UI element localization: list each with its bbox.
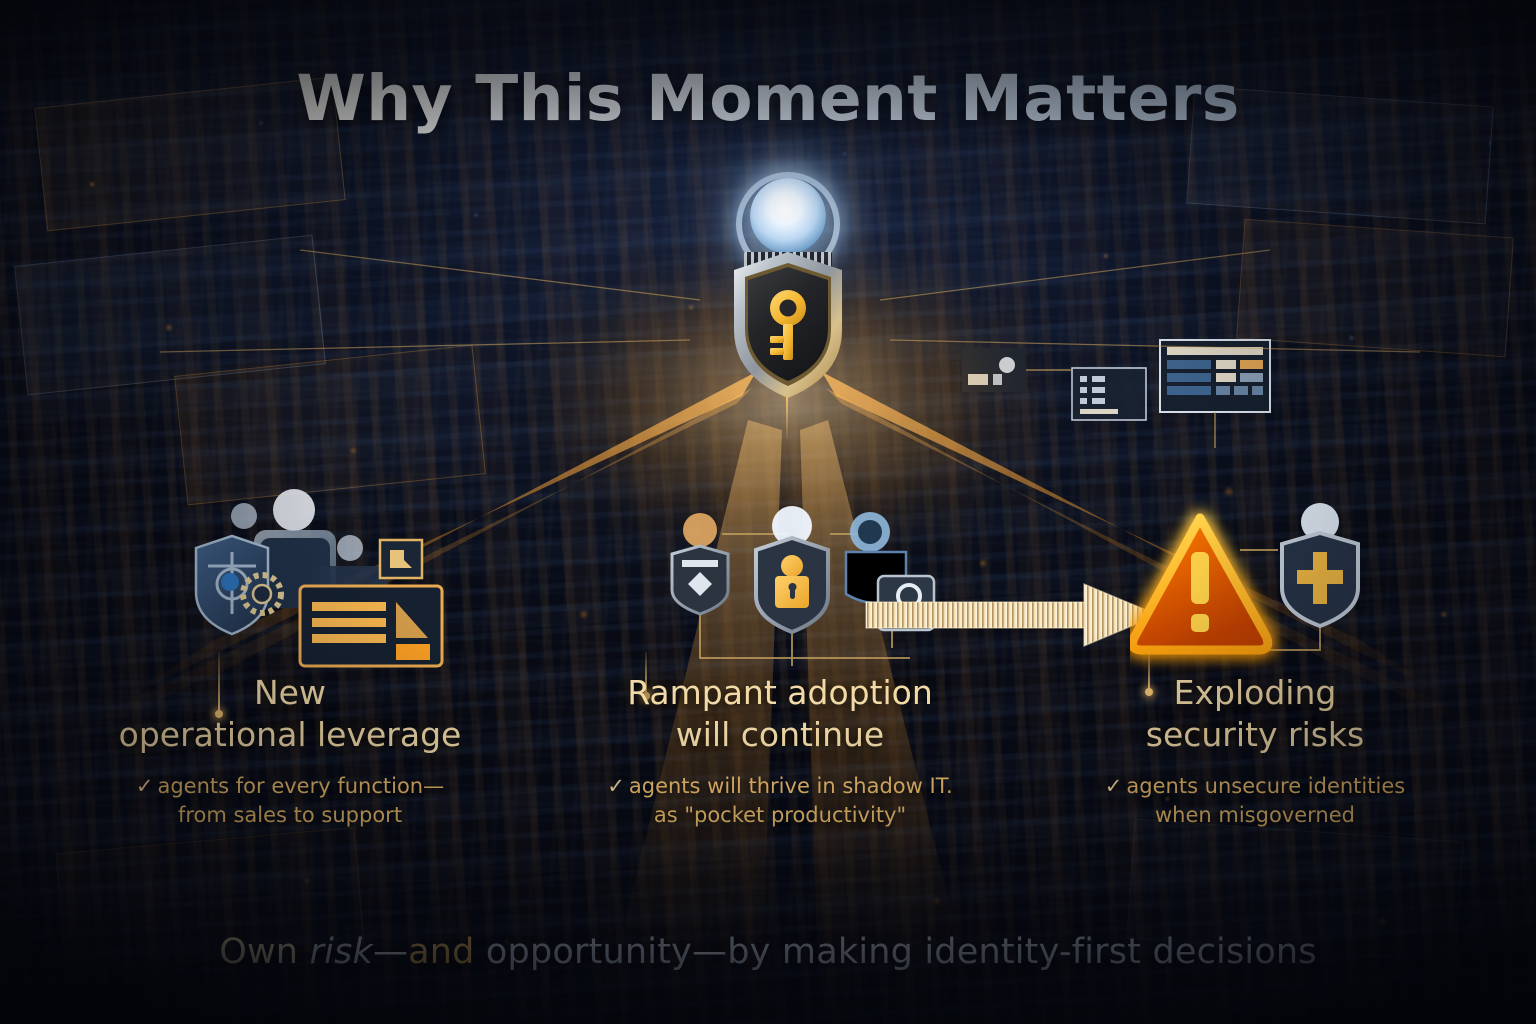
column-security-risks: Exploding security risks ✓agents unsecur… [1045, 672, 1465, 830]
column-heading-line2: will continue [676, 715, 884, 754]
shield-plus-icon [1282, 533, 1358, 626]
check-icon: ✓ [607, 774, 625, 798]
glowing-orb-icon [750, 178, 826, 254]
background-panel [1236, 219, 1514, 358]
column-heading-line1: Rampant adoption [627, 673, 933, 712]
check-icon: ✓ [136, 774, 154, 798]
chart-card-icon [300, 586, 442, 666]
shield-with-key-icon [730, 250, 846, 400]
user-icon [683, 513, 717, 547]
footer-rest: by making identity-first decisions [727, 932, 1317, 972]
column-bullet-line1: agents for every function— [157, 774, 444, 798]
column-bullet-line1: agents unsecure identities [1126, 774, 1405, 798]
footer-and: and [408, 932, 474, 972]
column-bullet: ✓agents unsecure identities when misgove… [1045, 772, 1465, 830]
column-bullet-line2: as "pocket productivity" [654, 803, 906, 827]
central-identity-hub[interactable] [728, 178, 848, 448]
footer-dash-1: — [373, 932, 408, 972]
pin-chip-icon [380, 540, 422, 578]
footer-risk: risk [310, 932, 373, 972]
footer-dash-2: — [692, 932, 727, 972]
cluster-operational-leverage[interactable] [190, 486, 450, 676]
footer-tagline: Own risk—and opportunity—by making ident… [0, 932, 1536, 972]
column-bullet: ✓agents for every function— from sales t… [75, 772, 505, 830]
column-heading-line2: operational leverage [119, 715, 462, 754]
check-icon: ✓ [1105, 774, 1123, 798]
column-bullet: ✓agents will thrive in shadow IT. as "po… [580, 772, 980, 830]
shield-lock-icon [756, 538, 828, 632]
infographic-canvas: Why This Moment Matters [0, 0, 1536, 1024]
warning-triangle-icon [1133, 518, 1268, 650]
footer-own: Own [219, 932, 309, 972]
column-bullet-line1: agents will thrive in shadow IT. [629, 774, 953, 798]
column-heading: Rampant adoption will continue [580, 672, 980, 756]
column-heading: Exploding security risks [1045, 672, 1465, 756]
column-bullet-line2: when misgoverned [1155, 803, 1355, 827]
footer-opportunity: opportunity [475, 932, 692, 972]
column-rampant-adoption: Rampant adoption will continue ✓agents w… [580, 672, 980, 830]
column-bullet-line2: from sales to support [178, 803, 402, 827]
column-operational-leverage: New operational leverage ✓agents for eve… [75, 672, 505, 830]
cluster-security-risks[interactable] [1130, 500, 1390, 675]
hub-stem [786, 396, 788, 442]
column-heading-line1: New [254, 673, 326, 712]
page-title: Why This Moment Matters [0, 62, 1536, 135]
column-heading: New operational leverage [75, 672, 505, 756]
column-heading-line2: security risks [1146, 715, 1364, 754]
shield-check-icon [672, 546, 728, 614]
column-heading-line1: Exploding [1174, 673, 1337, 712]
arrow-right-icon [862, 578, 1162, 652]
